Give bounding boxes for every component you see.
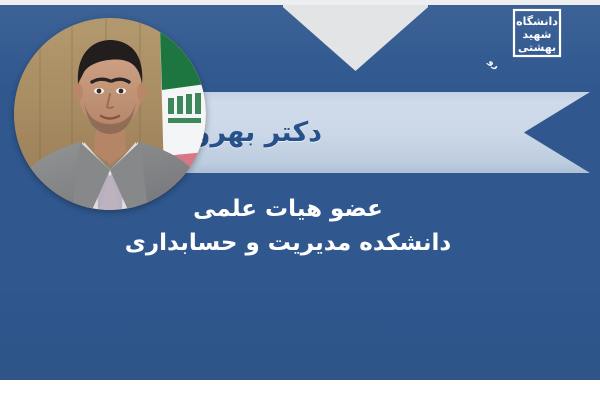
top-edge-strip	[0, 0, 600, 5]
logo-frame-line-2: شهید	[523, 28, 552, 41]
logo-frame-line-3: بهشتی	[518, 41, 556, 54]
avatar	[14, 18, 206, 210]
shahid-beheshti-logo-icon: دانشگاه شهید بهشتی روابط عمومی و اطلاع ر…	[486, 6, 582, 92]
logo-arc-textpath: روابط عمومی و اطلاع رسانی	[486, 6, 501, 72]
faculty-name: دانشکده مدیریت و حسابداری	[0, 227, 576, 259]
faculty-profile-card: دکتر بهروز قلیچ لی	[0, 0, 600, 400]
portrait-illustration	[14, 18, 206, 210]
logo-frame-line-1: دانشگاه	[516, 15, 558, 28]
university-logo: دانشگاه شهید بهشتی روابط عمومی و اطلاع ر…	[486, 6, 582, 92]
logo-arc-text: روابط عمومی و اطلاع رسانی	[486, 6, 501, 72]
bottom-white-band	[0, 380, 600, 400]
